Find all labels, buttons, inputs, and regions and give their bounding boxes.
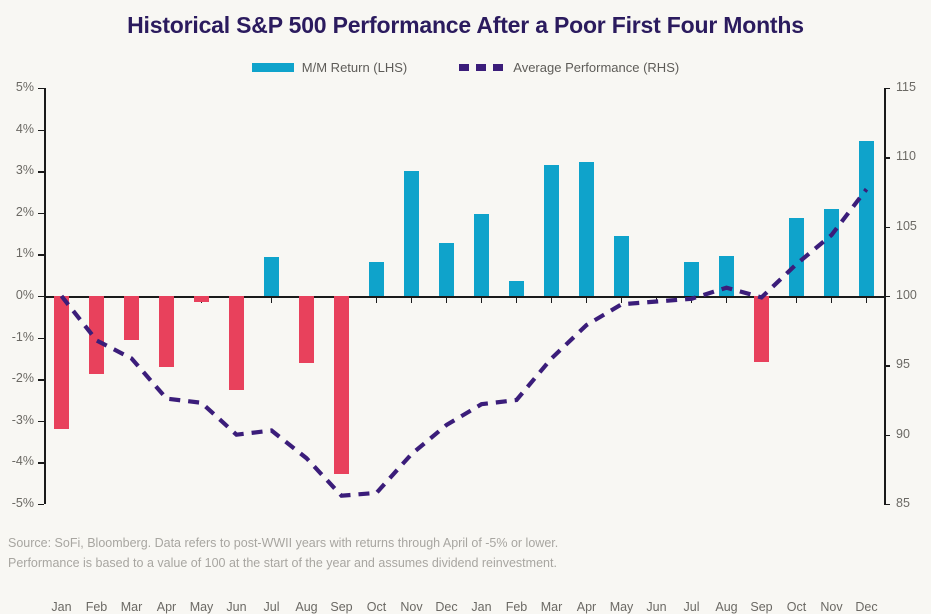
x-axis-label: Jul [252, 600, 292, 614]
chart-bar[interactable] [789, 218, 804, 296]
chart-bar[interactable] [369, 262, 384, 296]
x-axis-label: Oct [357, 600, 397, 614]
y-tick-label-right: 105 [896, 219, 931, 233]
y-tick-label-right: 90 [896, 427, 931, 441]
x-axis-label: Aug [287, 600, 327, 614]
y-tick-label-right: 95 [896, 357, 931, 371]
x-axis-label: Nov [392, 600, 432, 614]
chart-bar[interactable] [824, 209, 839, 296]
y-tick-left [38, 338, 44, 339]
source-line-2: Performance is based to a value of 100 a… [8, 554, 558, 573]
chart-bar[interactable] [579, 162, 594, 296]
x-axis-label: Mar [532, 600, 572, 614]
x-tick [411, 296, 413, 303]
y-tick-left [38, 504, 44, 505]
chart-bar[interactable] [474, 214, 489, 296]
x-tick [866, 296, 868, 303]
x-tick [691, 296, 693, 303]
x-tick [831, 296, 833, 303]
x-tick [586, 296, 588, 303]
x-axis-label: Oct [777, 600, 817, 614]
x-tick [271, 296, 273, 303]
y-tick-right [884, 88, 890, 89]
x-axis-label: Jan [462, 600, 502, 614]
chart-bar[interactable] [614, 236, 629, 296]
chart-bar[interactable] [54, 296, 69, 429]
chart-bar[interactable] [859, 141, 874, 296]
x-tick [656, 296, 658, 303]
legend-item-line[interactable]: Average Performance (RHS) [459, 60, 679, 75]
x-axis-label: Jun [637, 600, 677, 614]
y-tick-right [884, 296, 890, 297]
bar-swatch-icon [252, 63, 294, 72]
y-tick-label-left: 5% [0, 80, 34, 94]
x-axis-label: Dec [427, 600, 467, 614]
chart-bar[interactable] [334, 296, 349, 474]
chart-bar[interactable] [509, 281, 524, 296]
x-axis-label: Jan [42, 600, 82, 614]
y-tick-label-left: -5% [0, 496, 34, 510]
chart-legend: M/M Return (LHS) Average Performance (RH… [0, 60, 931, 75]
x-tick [446, 296, 448, 303]
x-axis-label: Mar [112, 600, 152, 614]
y-tick-label-left: 1% [0, 246, 34, 260]
y-tick-left [38, 171, 44, 172]
chart-bar[interactable] [439, 243, 454, 296]
chart-title: Historical S&P 500 Performance After a P… [0, 12, 931, 39]
source-note: Source: SoFi, Bloomberg. Data refers to … [8, 534, 558, 573]
chart-bar[interactable] [159, 296, 174, 367]
chart-bar[interactable] [264, 257, 279, 296]
x-tick [796, 296, 798, 303]
x-axis-label: Aug [707, 600, 747, 614]
source-line-1: Source: SoFi, Bloomberg. Data refers to … [8, 534, 558, 553]
y-tick-left [38, 213, 44, 214]
chart-bar[interactable] [194, 296, 209, 302]
y-tick-right [884, 227, 890, 228]
chart-bar[interactable] [754, 296, 769, 362]
x-tick [516, 296, 518, 303]
chart-bar[interactable] [229, 296, 244, 390]
x-axis-label: Feb [497, 600, 537, 614]
x-tick [376, 296, 378, 303]
y-tick-label-left: 4% [0, 122, 34, 136]
y-tick-label-left: 3% [0, 163, 34, 177]
x-axis-label: Feb [77, 600, 117, 614]
y-tick-right [884, 365, 890, 366]
plot-area: 5%4%3%2%1%0%-1%-2%-3%-4%-5%1151101051009… [44, 88, 884, 504]
x-tick [726, 296, 728, 303]
y-tick-right [884, 504, 890, 505]
chart-bar[interactable] [124, 296, 139, 340]
chart-bar[interactable] [544, 165, 559, 296]
y-tick-label-left: 2% [0, 205, 34, 219]
legend-item-bar[interactable]: M/M Return (LHS) [252, 60, 407, 75]
y-tick-label-right: 85 [896, 496, 931, 510]
x-axis-label: Sep [322, 600, 362, 614]
y-tick-right [884, 435, 890, 436]
y-tick-right [884, 157, 890, 158]
x-axis-label: Jun [217, 600, 257, 614]
x-axis-label: May [602, 600, 642, 614]
y-tick-left [38, 421, 44, 422]
chart-bar[interactable] [299, 296, 314, 363]
x-axis-label: May [182, 600, 222, 614]
x-tick [551, 296, 553, 303]
y-tick-label-left: -3% [0, 413, 34, 427]
x-axis-label: Sep [742, 600, 782, 614]
x-axis-label: Apr [567, 600, 607, 614]
chart-root: Historical S&P 500 Performance After a P… [0, 0, 931, 581]
y-tick-left [38, 254, 44, 255]
chart-bar[interactable] [719, 256, 734, 296]
y-tick-label-right: 115 [896, 80, 931, 94]
chart-bar[interactable] [404, 171, 419, 296]
x-axis-label: Apr [147, 600, 187, 614]
y-tick-label-left: -1% [0, 330, 34, 344]
dashed-line-swatch-icon [459, 64, 505, 71]
x-axis-label: Nov [812, 600, 852, 614]
x-tick [621, 296, 623, 303]
y-tick-label-left: -2% [0, 371, 34, 385]
y-tick-left [38, 379, 44, 380]
chart-bar[interactable] [89, 296, 104, 374]
y-tick-left [38, 462, 44, 463]
y-tick-label-left: 0% [0, 288, 34, 302]
x-tick [481, 296, 483, 303]
y-tick-label-right: 100 [896, 288, 931, 302]
x-axis-label: Jul [672, 600, 712, 614]
y-tick-label-left: -4% [0, 454, 34, 468]
y-tick-left [38, 130, 44, 131]
y-tick-label-right: 110 [896, 149, 931, 163]
legend-label-bar: M/M Return (LHS) [302, 60, 407, 75]
y-tick-left [38, 88, 44, 89]
chart-bar[interactable] [684, 262, 699, 296]
x-axis-label: Dec [847, 600, 887, 614]
y-tick-left [38, 296, 44, 297]
legend-label-line: Average Performance (RHS) [513, 60, 679, 75]
